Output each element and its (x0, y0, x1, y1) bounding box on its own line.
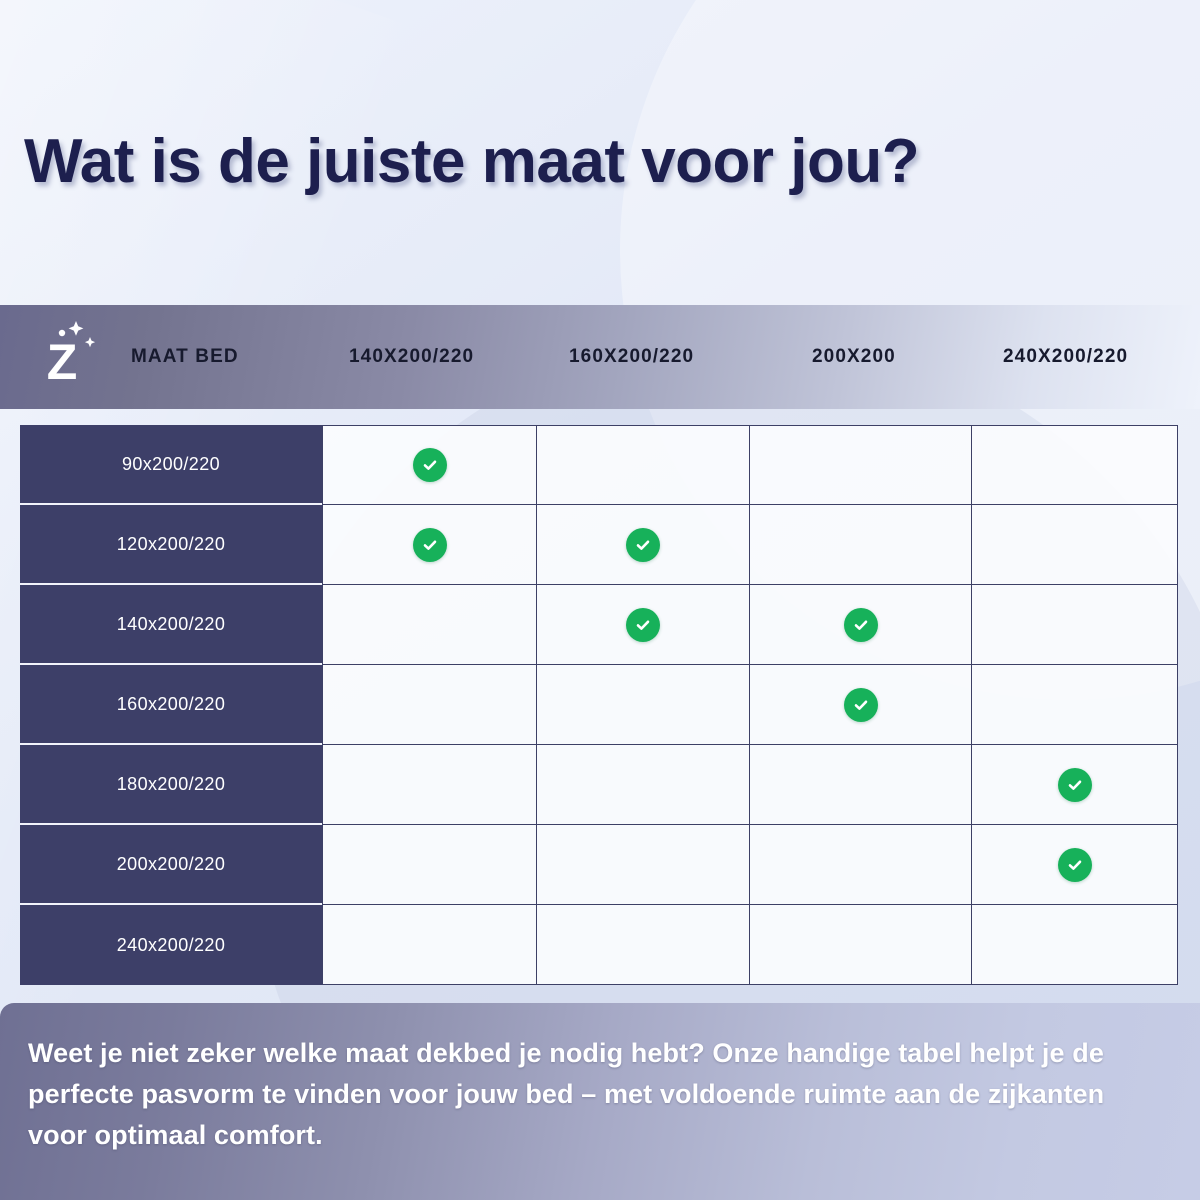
header-col-160x200-220: 160X200/220 (569, 346, 694, 368)
row-label-240x200-220: 240x200/220 (20, 905, 322, 985)
cell-r1-c1 (537, 505, 750, 585)
row-label-90x200-220: 90x200/220 (20, 425, 322, 505)
cell-r2-c0 (322, 585, 537, 665)
row-cells (322, 905, 1178, 985)
check-circle-icon (413, 448, 447, 482)
svg-text:Z: Z (47, 334, 78, 390)
cell-r6-c1 (537, 905, 750, 985)
row-label-140x200-220: 140x200/220 (20, 585, 322, 665)
table-row: 200x200/220 (20, 825, 1178, 905)
cell-r6-c2 (750, 905, 972, 985)
check-circle-icon (626, 608, 660, 642)
cell-r5-c0 (322, 825, 537, 905)
check-circle-icon (413, 528, 447, 562)
header-maat-bed: MAAT BED (131, 346, 239, 368)
header-col-240x200-220: 240X200/220 (1003, 346, 1128, 368)
cell-r4-c3 (972, 745, 1178, 825)
table-row: 140x200/220 (20, 585, 1178, 665)
cell-r6-c3 (972, 905, 1178, 985)
table-row: 180x200/220 (20, 745, 1178, 825)
size-comparison-table: 90x200/220120x200/220140x200/220160x200/… (20, 425, 1178, 985)
table-row: 160x200/220 (20, 665, 1178, 745)
row-cells (322, 825, 1178, 905)
cell-r0-c3 (972, 425, 1178, 505)
cell-r6-c0 (322, 905, 537, 985)
check-circle-icon (1058, 768, 1092, 802)
cell-r4-c1 (537, 745, 750, 825)
cell-r4-c2 (750, 745, 972, 825)
cell-r3-c0 (322, 665, 537, 745)
table-row: 90x200/220 (20, 425, 1178, 505)
row-cells (322, 425, 1178, 505)
footer-caption-band: Weet je niet zeker welke maat dekbed je … (0, 1003, 1200, 1200)
row-cells (322, 505, 1178, 585)
row-cells (322, 665, 1178, 745)
cell-r5-c3 (972, 825, 1178, 905)
cell-r1-c3 (972, 505, 1178, 585)
cell-r4-c0 (322, 745, 537, 825)
cell-r0-c0 (322, 425, 537, 505)
table-header-bar: Z MAAT BED 140X200/220 160X200/220 200X2… (0, 305, 1200, 409)
cell-r2-c2 (750, 585, 972, 665)
check-circle-icon (844, 688, 878, 722)
row-label-160x200-220: 160x200/220 (20, 665, 322, 745)
cell-r2-c3 (972, 585, 1178, 665)
header-col-140x200-220: 140X200/220 (349, 346, 474, 368)
cell-r1-c2 (750, 505, 972, 585)
cell-r3-c3 (972, 665, 1178, 745)
row-label-180x200-220: 180x200/220 (20, 745, 322, 825)
cell-r5-c2 (750, 825, 972, 905)
row-cells (322, 585, 1178, 665)
table-row: 120x200/220 (20, 505, 1178, 585)
check-circle-icon (844, 608, 878, 642)
cell-r2-c1 (537, 585, 750, 665)
cell-r5-c1 (537, 825, 750, 905)
cell-r3-c1 (537, 665, 750, 745)
row-cells (322, 745, 1178, 825)
cell-r0-c1 (537, 425, 750, 505)
cell-r1-c0 (322, 505, 537, 585)
crescent-moon-z-logo: Z (8, 307, 108, 407)
cell-r0-c2 (750, 425, 972, 505)
check-circle-icon (626, 528, 660, 562)
footer-caption-text: Weet je niet zeker welke maat dekbed je … (28, 1033, 1148, 1156)
header-col-200x200: 200X200 (812, 346, 896, 368)
page-title: Wat is de juiste maat voor jou? (24, 126, 919, 197)
row-label-200x200-220: 200x200/220 (20, 825, 322, 905)
table-row: 240x200/220 (20, 905, 1178, 985)
check-circle-icon (1058, 848, 1092, 882)
row-label-120x200-220: 120x200/220 (20, 505, 322, 585)
cell-r3-c2 (750, 665, 972, 745)
